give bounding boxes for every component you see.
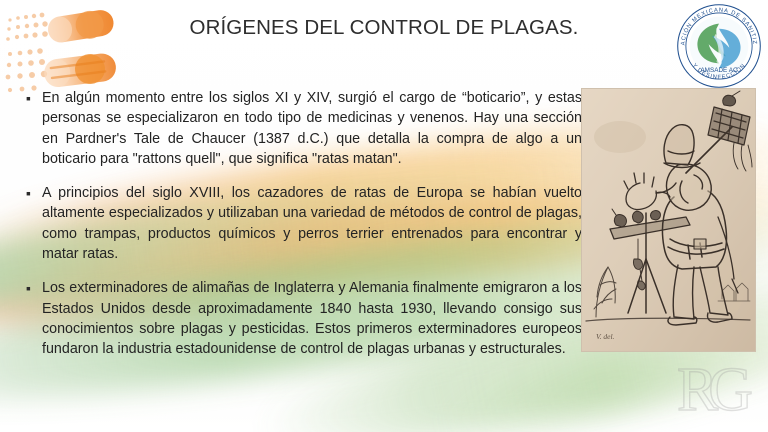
monogram-letters: RG — [677, 356, 751, 424]
slide-title: ORÍGENES DEL CONTROL DE PLAGAS. — [0, 16, 768, 40]
rat-catcher-engraving: V. del. — [581, 88, 756, 352]
bullet-text: Los exterminadores de alimañas de Inglat… — [42, 278, 582, 359]
presentation-slide: ORÍGENES DEL CONTROL DE PLAGAS. ASOCIACI… — [0, 0, 768, 432]
bullet-text: En algún momento entre los siglos XI y X… — [42, 88, 582, 169]
bullet-item: ▪ Los exterminadores de alimañas de Ingl… — [26, 278, 582, 359]
slide-body: ▪ En algún momento entre los siglos XI y… — [26, 88, 582, 360]
amsade-logo: ASOCIACIÓN MEXICANA DE SANITIZACIÓN Y DE… — [676, 3, 762, 89]
bullet-item: ▪ A principios del siglo XVIII, los caza… — [26, 183, 582, 264]
bullet-item: ▪ En algún momento entre los siglos XI y… — [26, 88, 582, 169]
bullet-marker-icon: ▪ — [26, 88, 42, 108]
bullet-text: A principios del siglo XVIII, los cazado… — [42, 183, 582, 264]
logo-center-text: AMSADE AC — [700, 67, 738, 74]
bullet-marker-icon: ▪ — [26, 183, 42, 203]
engraving-signature: V. del. — [596, 332, 615, 341]
bullet-marker-icon: ▪ — [26, 278, 42, 298]
monogram-watermark: RG — [658, 350, 762, 430]
